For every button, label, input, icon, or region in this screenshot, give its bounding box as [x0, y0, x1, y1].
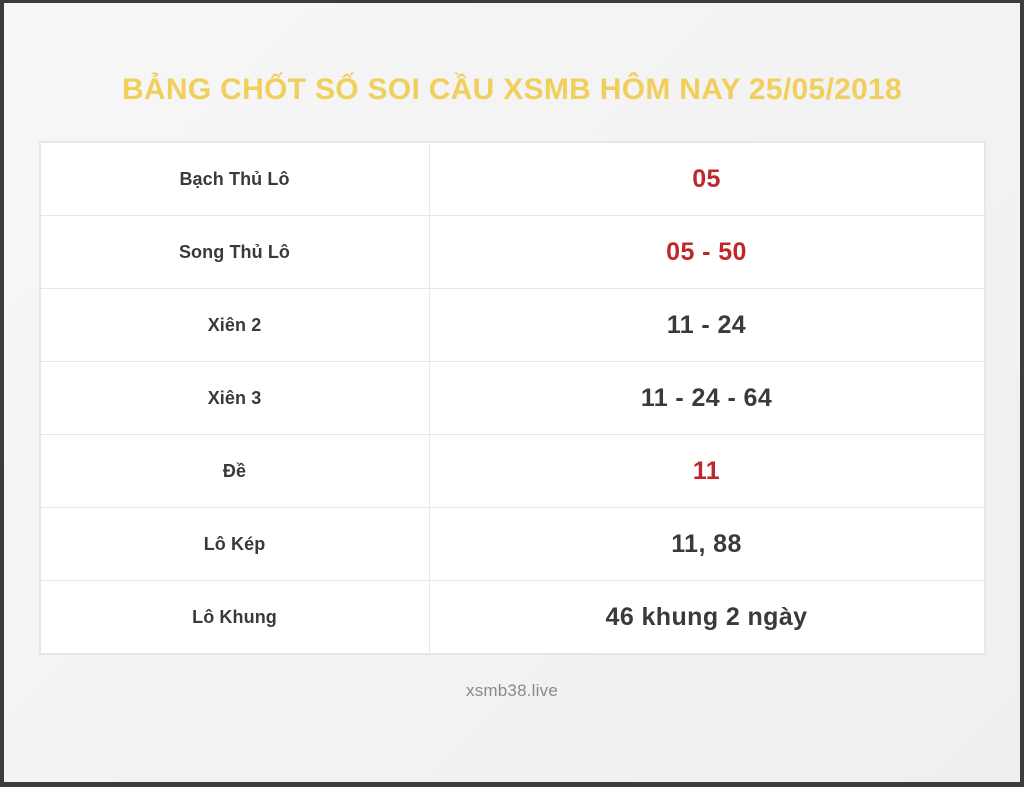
row-value: 11 - 24 - 64 [429, 362, 984, 435]
table-row: Xiên 311 - 24 - 64 [40, 362, 984, 435]
table-row: Bạch Thủ Lô05 [40, 143, 984, 216]
table-body: Bạch Thủ Lô05Song Thủ Lô05 - 50Xiên 211 … [40, 143, 984, 654]
page-title: BẢNG CHỐT SỐ SOI CẦU XSMB HÔM NAY 25/05/… [122, 75, 902, 105]
lottery-prediction-table: Bạch Thủ Lô05Song Thủ Lô05 - 50Xiên 211 … [40, 142, 985, 654]
row-value: 11 [429, 435, 984, 508]
table-row: Lô Kép11, 88 [40, 508, 984, 581]
row-label: Xiên 3 [40, 362, 429, 435]
site-watermark: xsmb38.live [466, 681, 558, 701]
row-label: Xiên 2 [40, 289, 429, 362]
content-canvas: BẢNG CHỐT SỐ SOI CẦU XSMB HÔM NAY 25/05/… [4, 3, 1020, 782]
row-label: Đề [40, 435, 429, 508]
row-value: 05 - 50 [429, 216, 984, 289]
table-row: Đề11 [40, 435, 984, 508]
row-label: Lô Khung [40, 581, 429, 654]
row-label: Lô Kép [40, 508, 429, 581]
row-value: 11, 88 [429, 508, 984, 581]
table-row: Song Thủ Lô05 - 50 [40, 216, 984, 289]
row-label: Bạch Thủ Lô [40, 143, 429, 216]
table-row: Xiên 211 - 24 [40, 289, 984, 362]
row-value: 11 - 24 [429, 289, 984, 362]
table-row: Lô Khung46 khung 2 ngày [40, 581, 984, 654]
row-value: 05 [429, 143, 984, 216]
row-label: Song Thủ Lô [40, 216, 429, 289]
row-value: 46 khung 2 ngày [429, 581, 984, 654]
lottery-prediction-table-container: Bạch Thủ Lô05Song Thủ Lô05 - 50Xiên 211 … [39, 141, 986, 655]
page-frame: BẢNG CHỐT SỐ SOI CẦU XSMB HÔM NAY 25/05/… [0, 0, 1024, 787]
